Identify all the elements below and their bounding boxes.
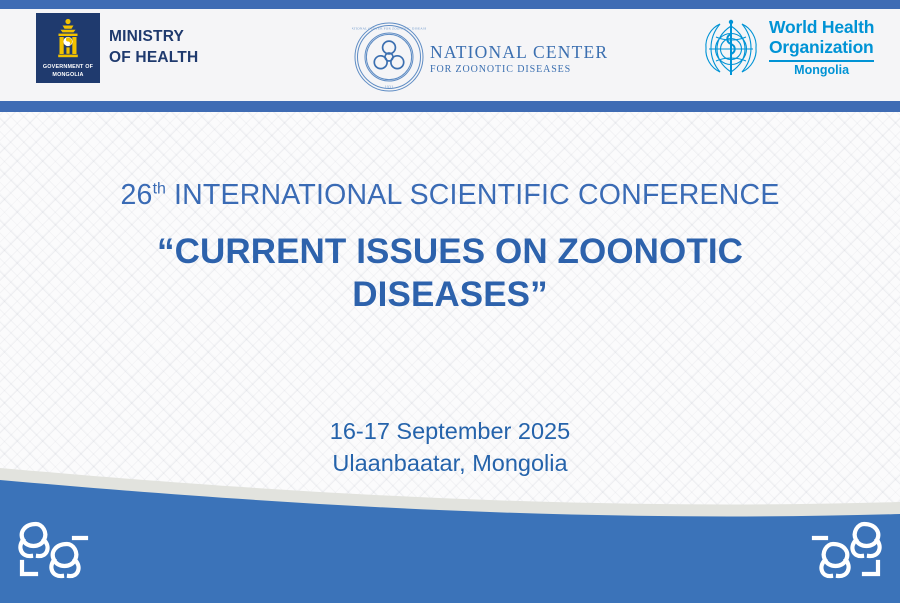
mongolian-knot-ornament-right	[804, 518, 886, 585]
bottom-wave-decoration	[0, 468, 900, 603]
top-accent-bar	[0, 0, 900, 9]
conference-number: 26	[120, 179, 152, 211]
svg-text:NATIONAL CENTER FOR ZOONOTIC D: NATIONAL CENTER FOR ZOONOTIC DISEASES	[352, 26, 426, 30]
theme-line1: “CURRENT ISSUES ON ZOONOTIC	[0, 231, 900, 274]
wave-blue-band	[0, 480, 900, 603]
national-center-wordmark: NATIONAL CENTER FOR ZOONOTIC DISEASES	[430, 43, 608, 75]
header-divider-bar	[0, 101, 900, 112]
ministry-of-health-name: MINISTRY OF HEALTH	[109, 27, 198, 69]
title-block: 26th INTERNATIONAL SCIENTIFIC CONFERENCE…	[0, 178, 900, 317]
national-center-line2: FOR ZOONOTIC DISEASES	[430, 63, 608, 76]
biohazard-seal-icon: NATIONAL CENTER FOR ZOONOTIC DISEASES 19…	[352, 20, 426, 99]
event-dates: 16-17 September 2025	[0, 415, 900, 447]
conference-ordinal-suffix: th	[153, 181, 166, 198]
mongolian-knot-ornament-left	[14, 518, 96, 585]
who-name-line1: World Health	[769, 18, 874, 38]
conference-theme: “CURRENT ISSUES ON ZOONOTIC DISEASES”	[0, 231, 900, 316]
conference-heading: 26th INTERNATIONAL SCIENTIFIC CONFERENCE	[0, 178, 900, 212]
national-center-zoonotic-diseases-logo: NATIONAL CENTER FOR ZOONOTIC DISEASES 19…	[352, 20, 608, 99]
who-name-line2: Organization	[769, 38, 874, 58]
emblem-caption-line2: MONGOLIA	[43, 71, 93, 79]
who-country-label: Mongolia	[769, 64, 874, 78]
ministry-of-health-logo: GOVERNMENT OF MONGOLIA MINISTRY OF HEALT…	[36, 13, 198, 83]
theme-line2: DISEASES”	[0, 274, 900, 317]
ministry-name-line1: MINISTRY	[109, 27, 198, 48]
state-emblem-caption: GOVERNMENT OF MONGOLIA	[43, 63, 93, 79]
soyombo-icon	[36, 17, 100, 63]
mongolia-state-emblem-icon: GOVERNMENT OF MONGOLIA	[36, 13, 100, 83]
who-divider	[769, 60, 874, 62]
who-rod-of-asclepius-icon	[700, 18, 762, 85]
emblem-caption-line1: GOVERNMENT OF	[43, 63, 93, 71]
ministry-name-line2: OF HEALTH	[109, 48, 198, 69]
who-mongolia-logo: World Health Organization Mongolia	[700, 18, 874, 85]
who-wordmark: World Health Organization Mongolia	[769, 18, 874, 78]
conference-heading-text: INTERNATIONAL SCIENTIFIC CONFERENCE	[166, 179, 780, 211]
national-center-line1: NATIONAL CENTER	[430, 43, 608, 62]
conference-title-slide: GOVERNMENT OF MONGOLIA MINISTRY OF HEALT…	[0, 0, 900, 603]
svg-text:1931: 1931	[385, 85, 394, 90]
